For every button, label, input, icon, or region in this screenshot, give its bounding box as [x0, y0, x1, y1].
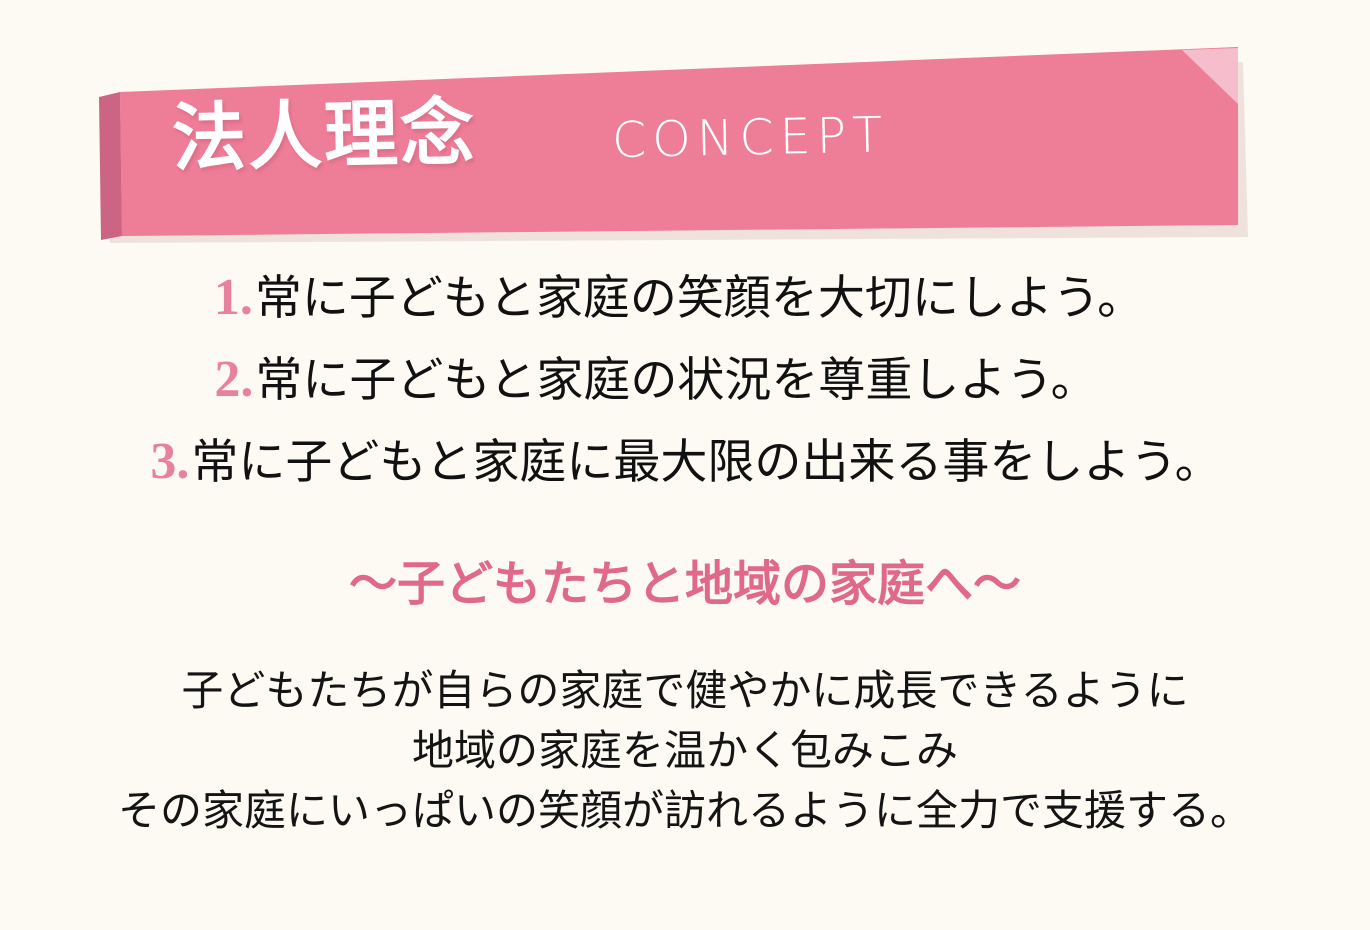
principle-number-2: 2. — [214, 354, 253, 406]
mission-statement: 子どもたちが自らの家庭で健やかに成長できるように 地域の家庭を温かく包みこみ そ… — [0, 661, 1370, 841]
banner-ribbon-shape — [0, 0, 1370, 250]
tagline: 〜子どもたちと地域の家庭へ〜 — [0, 558, 1370, 611]
principles-list: 1. 常に子どもと家庭の笑顔を大切にしよう。 2. 常に子どもと家庭の状況を尊重… — [0, 272, 1370, 518]
principle-text-1: 常に子どもと家庭の笑顔を大切にしよう。 — [255, 275, 1144, 322]
principle-number-1: 1. — [214, 272, 253, 324]
principle-text-2: 常に子どもと家庭の状況を尊重しよう。 — [255, 357, 1097, 404]
mission-line-3: その家庭にいっぱいの笑顔が訪れるように全力で支援する。 — [0, 781, 1370, 841]
principle-item-3: 3. 常に子どもと家庭に最大限の出来る事をしよう。 — [0, 436, 1370, 518]
principle-item-1: 1. 常に子どもと家庭の笑顔を大切にしよう。 — [0, 272, 1370, 354]
banner-left-fold — [99, 92, 122, 240]
mission-line-2: 地域の家庭を温かく包みこみ — [0, 721, 1370, 781]
mission-line-1: 子どもたちが自らの家庭で健やかに成長できるように — [0, 661, 1370, 721]
concept-banner: 法人理念 CONCEPT — [0, 0, 1370, 250]
principle-text-3: 常に子どもと家庭に最大限の出来る事をしよう。 — [191, 439, 1221, 486]
banner-body — [120, 47, 1238, 236]
principle-item-2: 2. 常に子どもと家庭の状況を尊重しよう。 — [0, 354, 1370, 436]
principle-number-3: 3. — [150, 436, 189, 488]
